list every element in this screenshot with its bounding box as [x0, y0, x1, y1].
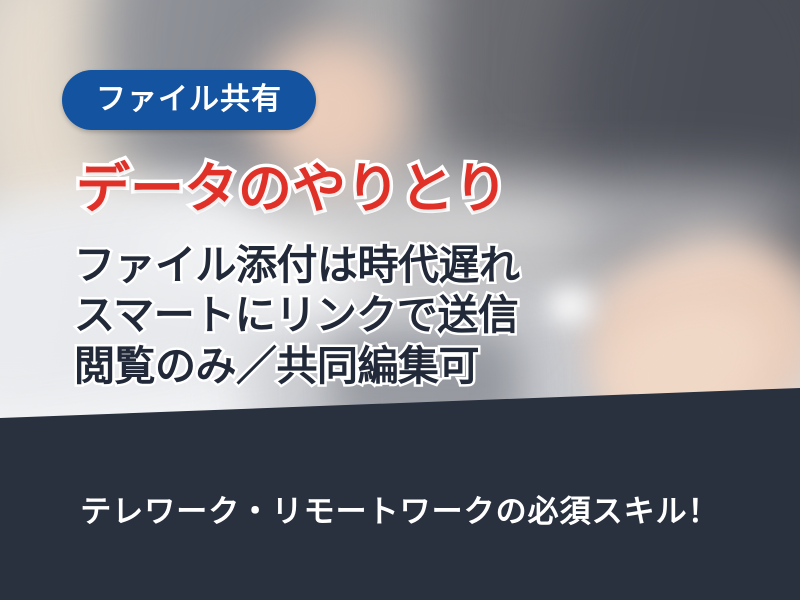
list-item: スマートにリンクで送信 — [74, 292, 520, 338]
category-badge-label: ファイル共有 — [96, 85, 282, 115]
footer-band: テレワーク・リモートワークの必須スキル！ — [0, 388, 800, 600]
category-badge: ファイル共有 — [62, 70, 316, 130]
bullet-list: ファイル添付は時代遅れ スマートにリンクで送信 閲覧のみ／共同編集可 — [74, 242, 520, 389]
list-item: 閲覧のみ／共同編集可 — [74, 343, 520, 389]
list-item: ファイル添付は時代遅れ — [74, 242, 520, 288]
banner-graphic: ファイル共有 データのやりとり ファイル添付は時代遅れ スマートにリンクで送信 … — [0, 0, 800, 600]
page-title: データのやりとり — [76, 160, 508, 218]
text-content: ファイル共有 データのやりとり ファイル添付は時代遅れ スマートにリンクで送信 … — [62, 0, 762, 430]
footer-tagline: テレワーク・リモートワークの必須スキル！ — [80, 496, 719, 527]
